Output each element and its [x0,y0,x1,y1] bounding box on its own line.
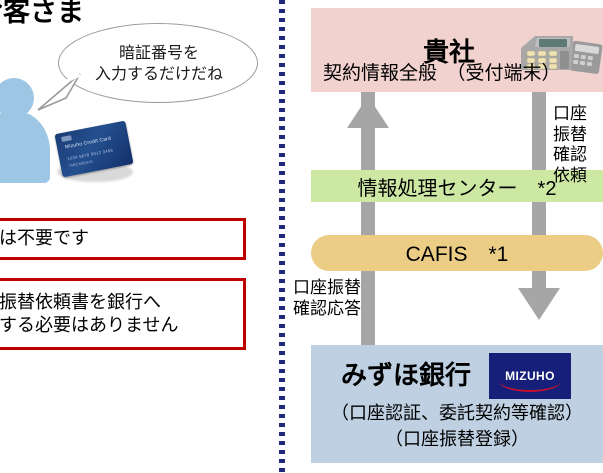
bank-detail-line-2: （口座振替登録） [385,425,529,451]
diagram-page: お客さま 暗証番号を 入力するだけだね Mizuho Credit Card 1… [0,0,603,473]
flow-label-request: 口座振替 確認依頼 [553,104,603,187]
bank-title-row: みずほ銀行 MIZUHO [311,353,603,397]
bank-flow-diagram: 貴社 [285,0,603,473]
mizuho-swoosh-icon [499,381,561,392]
bank-box: みずほ銀行 MIZUHO （口座認証、委託契約等確認） （口座振替登録） [311,345,603,463]
person-body [0,111,50,183]
speech-bubble: 暗証番号を 入力するだけだね [58,23,258,103]
arrow-up-icon [347,96,389,128]
customer-panel: お客さま 暗証番号を 入力するだけだね Mizuho Credit Card 1… [0,0,283,473]
credit-card-icon: Mizuho Credit Card 1234 5678 9012 3456 T… [55,124,135,186]
person-silhouette-icon [0,78,54,182]
cafis-label: CAFIS *1 [406,238,509,268]
company-box: 貴社 [311,8,603,92]
credit-card-chip [61,135,72,142]
arrow-down-icon [518,288,560,320]
bank-detail-line-1: （口座認証、委託契約等確認） [331,399,583,425]
callout-text: 印鑑は不要です [0,227,89,250]
speech-bubble-text: 暗証番号を 入力するだけだね [59,24,259,104]
callout-box: 口座振替依頼書を銀行へ 送付する必要はありません [0,278,246,350]
credit-card-holder-text: TARO MIZUHO [68,160,93,169]
cafis-box: CAFIS *1 [311,235,603,271]
arrow-up-shaft [361,92,375,358]
callout-box: 印鑑は不要です [0,218,246,260]
flow-label-response: 口座振替 確認応答 [293,278,361,319]
processing-center-label: 情報処理センター *2 [358,172,557,201]
company-subtitle: 契約情報全般 （受付端末） [323,58,561,85]
bank-title: みずほ銀行 [341,355,471,392]
callout-text: 口座振替依頼書を銀行へ 送付する必要はありません [0,291,178,337]
mizuho-logo: MIZUHO [489,353,571,399]
